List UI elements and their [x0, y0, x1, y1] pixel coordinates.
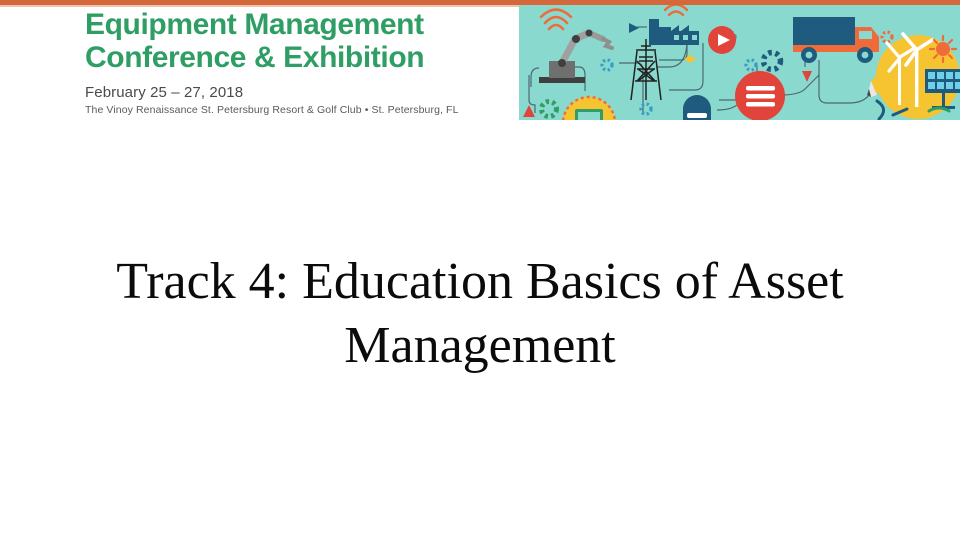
logo-title-line-1: Equipment Management [85, 8, 515, 41]
speech-bubble-icon [735, 71, 785, 120]
conference-logo-block: Equipment Management Conference & Exhibi… [85, 8, 515, 117]
presentation-slide: Equipment Management Conference & Exhibi… [0, 0, 960, 540]
header-illustration-banner [519, 5, 960, 120]
logo-title-line-2: Conference & Exhibition [85, 41, 515, 74]
conference-venue: The Vinoy Renaissance St. Petersburg Res… [85, 104, 515, 117]
slide-title: Track 4: Education Basics of Asset Manag… [60, 250, 900, 378]
renewable-energy-icon [876, 34, 960, 119]
page-title-line-1: Track 4: Education Basics of Asset [60, 250, 900, 314]
sun-icon [930, 36, 956, 62]
conference-dates: February 25 – 27, 2018 [85, 84, 515, 102]
industry-iot-illustration [519, 5, 960, 120]
play-button-icon [708, 26, 736, 54]
page-title-line-2: Management [60, 314, 900, 378]
